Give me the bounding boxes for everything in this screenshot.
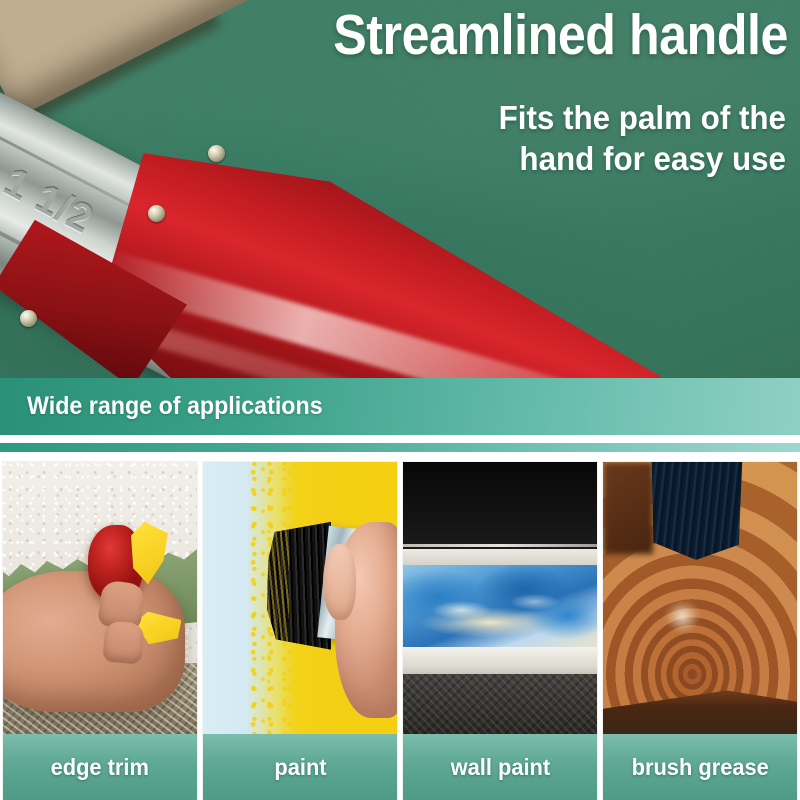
panel-caption-label: brush grease [631, 754, 768, 781]
finger [102, 621, 144, 665]
ferrule-rivet [20, 310, 37, 327]
product-feature-page: 1 1/2 Streamlined handle Fits the palm o… [0, 0, 800, 800]
hero-section: 1 1/2 Streamlined handle Fits the palm o… [0, 0, 800, 378]
panel-caption-wall-paint: wall paint [403, 734, 597, 800]
hero-subheading-line-1: Fits the palm of the [499, 99, 786, 136]
wood-shadow-area [603, 462, 653, 554]
applications-banner: Wide range of applications [0, 378, 800, 435]
application-panel-wall-paint[interactable]: wall paint [403, 462, 597, 800]
ferrule-rivet [148, 205, 165, 222]
baseboard [403, 647, 597, 674]
dark-ceiling [403, 462, 597, 549]
panel-caption-edge-trim: edge trim [3, 734, 197, 800]
grey-carpet-floor [403, 674, 597, 734]
panel-caption-paint: paint [203, 734, 397, 800]
panel-caption-label: wall paint [450, 754, 550, 781]
panel-photo-wall-paint [403, 462, 597, 734]
thumb [323, 544, 356, 620]
application-panel-brush-grease[interactable]: brush grease [603, 462, 797, 800]
application-panel-edge-trim[interactable]: edge trim [3, 462, 197, 800]
upper-wall [403, 549, 597, 565]
ferrule-rivet [208, 145, 225, 162]
applications-banner-text: Wide range of applications [27, 392, 323, 421]
application-panel-paint[interactable]: paint [203, 462, 397, 800]
hero-subheading-line-2: hand for easy use [378, 138, 787, 179]
dark-brush-head [646, 462, 743, 560]
panel-caption-brush-grease: brush grease [603, 734, 797, 800]
hero-subheading: Fits the palm of the hand for easy use [378, 97, 787, 180]
ceiling-trim-line [403, 544, 597, 547]
panel-photo-paint [203, 462, 397, 734]
panel-caption-label: edge trim [51, 754, 149, 781]
hero-headline: Streamlined handle [260, 6, 788, 65]
panel-photo-edge-trim [3, 462, 197, 734]
panel-photo-brush-grease [603, 462, 797, 734]
banner-accent-rule [0, 443, 800, 452]
blue-wave-mural [403, 565, 597, 647]
grease-sheen-spot [661, 598, 704, 639]
application-panel-grid: edge trim paint [0, 462, 800, 800]
panel-caption-label: paint [274, 754, 326, 781]
